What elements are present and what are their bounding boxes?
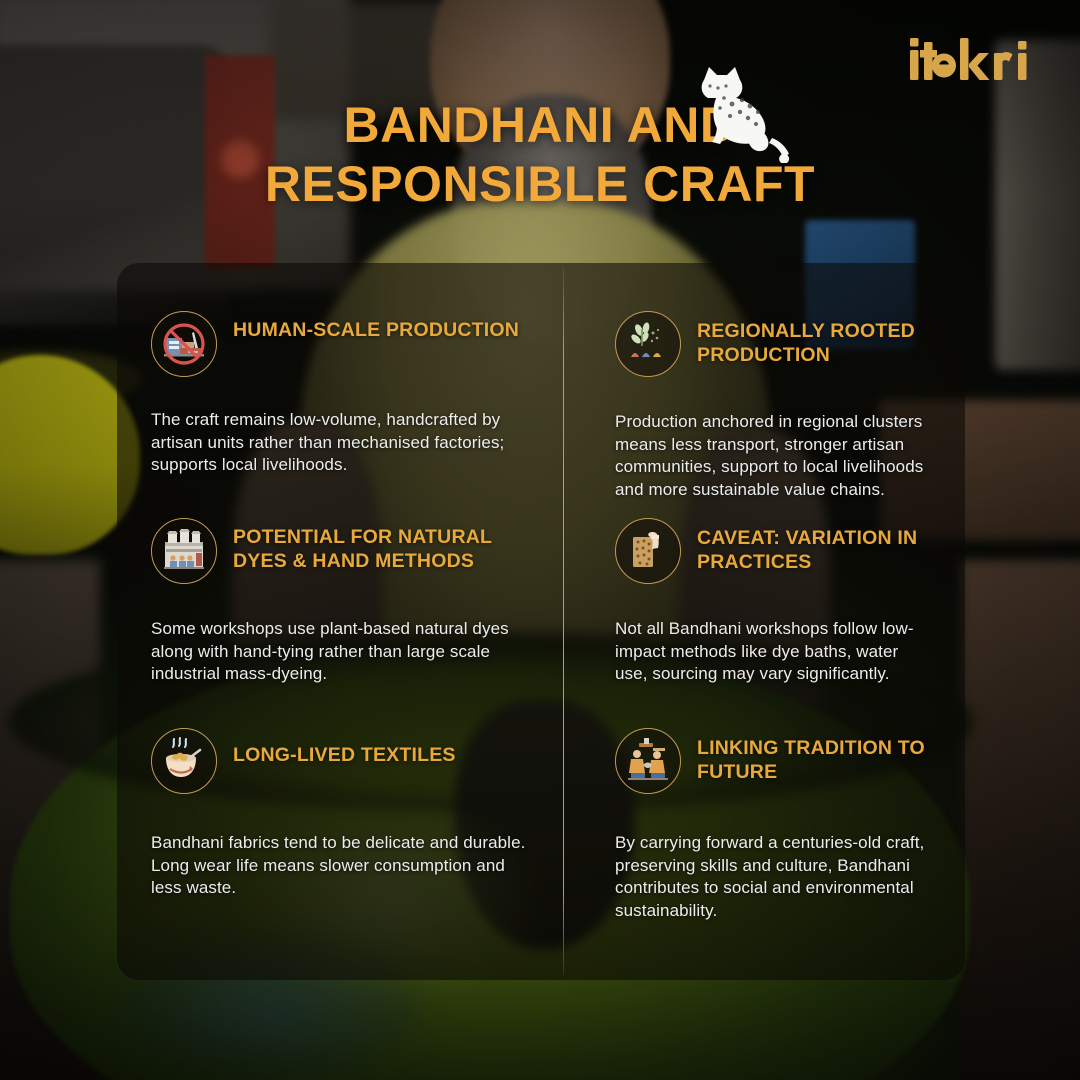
title-line-1: BANDHANI AND [160, 96, 920, 155]
plants-and-dye-mounds-icon [615, 311, 681, 377]
feature-card-regionally-rooted-production: REGIONALLY ROOTED PRODUCTION Production … [563, 263, 965, 470]
card-title: POTENTIAL FOR NATURAL DYES & HAND METHOD… [233, 518, 529, 574]
feature-grid: HUMAN-SCALE PRODUCTION The craft remains… [117, 263, 965, 980]
card-body: Not all Bandhani workshops follow low-im… [615, 618, 925, 686]
card-title: LONG-LIVED TEXTILES [233, 728, 456, 768]
workshop-building-icon [151, 518, 217, 584]
feature-card-long-lived-textiles: LONG-LIVED TEXTILES Bandhani fabrics ten… [117, 680, 563, 980]
card-title: REGIONALLY ROOTED PRODUCTION [697, 311, 925, 368]
card-header: CAVEAT: VARIATION IN PRACTICES [615, 518, 925, 584]
card-title: CAVEAT: VARIATION IN PRACTICES [697, 518, 925, 575]
card-title: HUMAN-SCALE PRODUCTION [233, 311, 519, 343]
card-header: HUMAN-SCALE PRODUCTION [151, 311, 529, 377]
card-body: Bandhani fabrics tend to be delicate and… [151, 832, 529, 900]
card-body: By carrying forward a centuries-old craf… [615, 832, 925, 922]
two-artisans-working-icon [615, 728, 681, 794]
card-header: LONG-LIVED TEXTILES [151, 728, 529, 794]
card-header: POTENTIAL FOR NATURAL DYES & HAND METHOD… [151, 518, 529, 584]
feature-card-human-scale-production: HUMAN-SCALE PRODUCTION The craft remains… [117, 263, 563, 470]
card-body: The craft remains low-volume, handcrafte… [151, 409, 529, 477]
poster-title-block: BANDHANI AND RESPONSIBLE CRAFT [0, 96, 1080, 214]
feature-card-caveat-variation-in-practices: CAVEAT: VARIATION IN PRACTICES Not all B… [563, 470, 965, 680]
brand-logo[interactable] [908, 38, 1040, 84]
card-title: LINKING TRADITION TO FUTURE [697, 728, 925, 785]
basket-bowl-icon [908, 38, 1040, 84]
card-header: LINKING TRADITION TO FUTURE [615, 728, 925, 794]
card-body: Some workshops use plant-based natural d… [151, 618, 529, 686]
feature-card-natural-dyes-hand-methods: POTENTIAL FOR NATURAL DYES & HAND METHOD… [117, 470, 563, 680]
steaming-dye-pot-icon [151, 728, 217, 794]
infographic-poster: BANDHANI AND RESPONSIBLE CRAFT [0, 0, 1080, 1080]
title-line-2: RESPONSIBLE CRAFT [160, 155, 920, 214]
hand-holding-patterned-fabric-icon [615, 518, 681, 584]
card-header: REGIONALLY ROOTED PRODUCTION [615, 311, 925, 377]
feature-card-linking-tradition-to-future: LINKING TRADITION TO FUTURE By carrying … [563, 680, 965, 980]
no-factory-icon [151, 311, 217, 377]
